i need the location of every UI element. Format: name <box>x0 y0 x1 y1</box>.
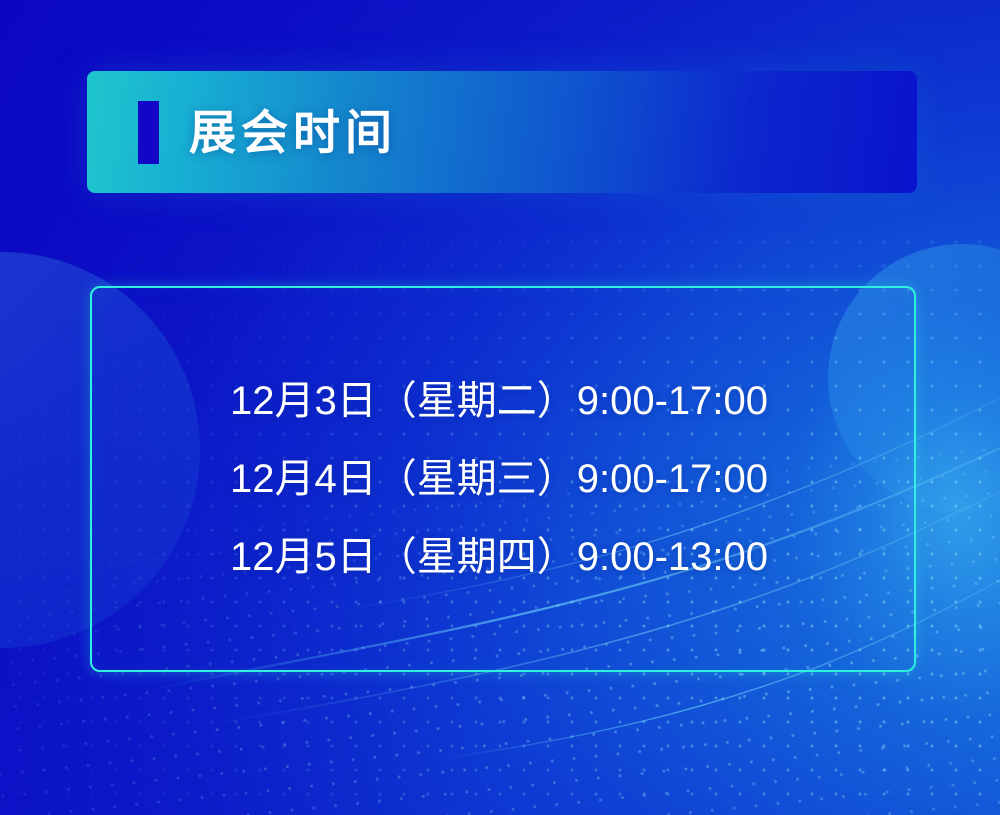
poster-canvas: 展会时间 12月3日（星期二）9:00-17:00 12月4日（星期三）9:00… <box>0 0 1000 815</box>
schedule-card: 12月3日（星期二）9:00-17:00 12月4日（星期三）9:00-17:0… <box>90 286 916 672</box>
vertical-accent-bar <box>138 101 159 164</box>
page-title: 展会时间 <box>189 109 397 156</box>
schedule-line: 12月3日（星期二）9:00-17:00 <box>230 362 914 440</box>
section-header-banner: 展会时间 <box>87 71 917 193</box>
schedule-line: 12月5日（星期四）9:00-13:00 <box>230 518 914 596</box>
schedule-line: 12月4日（星期三）9:00-17:00 <box>230 440 914 518</box>
